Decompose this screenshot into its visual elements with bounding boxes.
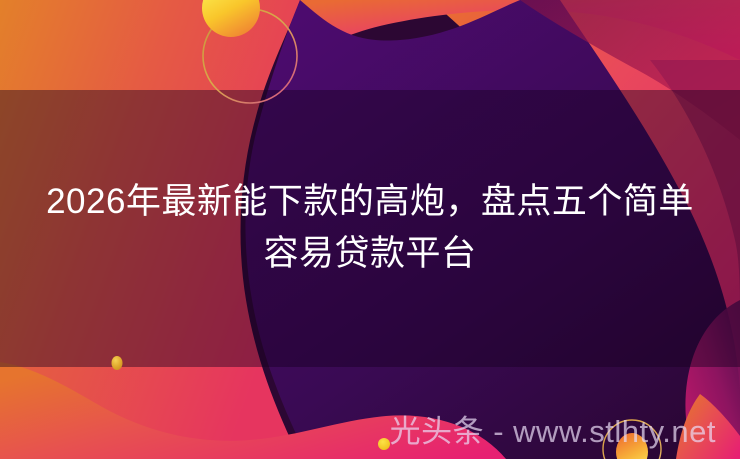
dark-horizontal-band (0, 90, 740, 367)
yellow-dot-right-icon (378, 438, 390, 450)
gold-dot-left-icon (112, 356, 123, 370)
poster-canvas: 2026年最新能下款的高炮，盘点五个简单容易贷款平台 光头条 - www.stl… (0, 0, 740, 459)
poster-background-art (0, 0, 740, 459)
